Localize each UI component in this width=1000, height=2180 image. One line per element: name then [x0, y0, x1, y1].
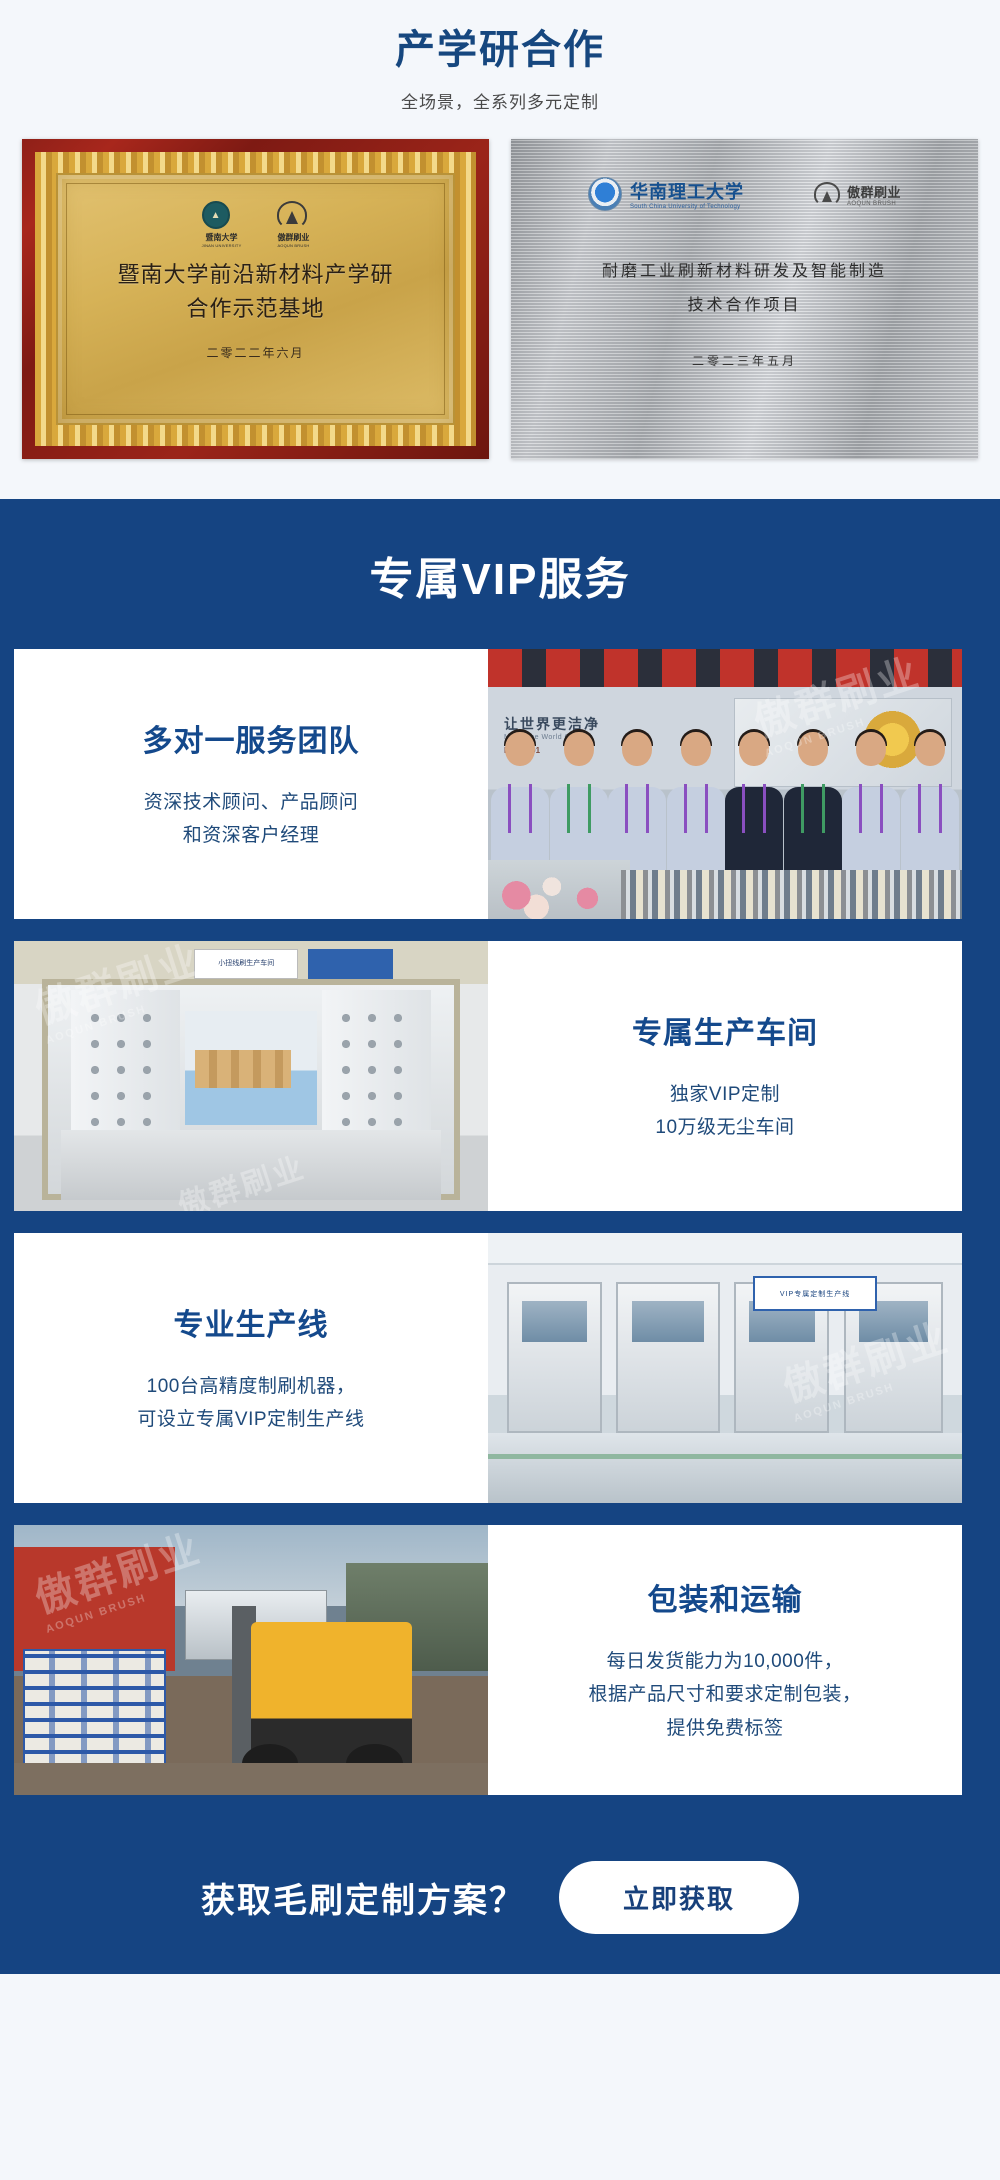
vip-card-body-line1: 100台高精度制刷机器，: [137, 1370, 364, 1403]
workshop-interior: [185, 1011, 318, 1124]
pallet-straps: [23, 1649, 165, 1768]
booth-flowers: [488, 860, 630, 919]
plaque-gold-logo-left-label: 暨南大学: [206, 233, 238, 242]
plaque-gold-logo-right-en: AOQUN BRUSH: [277, 243, 309, 248]
plaque-steel-logos: 华南理工大学 South China University of Technol…: [588, 177, 901, 211]
vip-card-photo-cleanroom: 小扭线刷生产车间 傲群刷业 AOQUN BRUSH 傲群刷业: [14, 941, 488, 1211]
vip-card-heading: 专属生产车间: [632, 1008, 818, 1052]
vip-card-production-line: 专业生产线 100台高精度制刷机器， 可设立专属VIP定制生产线 VIP专属定制…: [14, 1233, 986, 1503]
vip-card-service-team: 多对一服务团队 资深技术顾问、产品顾问 和资深客户经理 让世界更洁净 Make …: [14, 649, 986, 919]
vip-card-heading: 多对一服务团队: [143, 716, 360, 760]
vip-service-section: 专属VIP服务 多对一服务团队 资深技术顾问、产品顾问 和资深客户经理 让世界更…: [0, 499, 1000, 1835]
vip-card-heading: 专业生产线: [174, 1300, 329, 1344]
vip-card-body-line1: 资深技术顾问、产品顾问: [144, 786, 359, 819]
plaque-steel-company-cn: 傲群刷业: [847, 182, 901, 201]
brush-samples: [621, 870, 962, 919]
scut-logo: 华南理工大学 South China University of Technol…: [588, 177, 744, 211]
plaque-gold-logo-right-label: 傲群刷业: [277, 233, 309, 242]
vip-card-photo-production-line: VIP专属定制生产线 傲群刷业 AOQUN BRUSH: [488, 1233, 962, 1503]
vip-card-heading: 包装和运输: [648, 1575, 803, 1619]
cleanroom-floor: [61, 1130, 440, 1200]
workshop-ceiling: [488, 1233, 962, 1265]
plaque-steel-date: 二零二三年五月: [692, 352, 797, 369]
plaque-steel-company-en: AOQUN BRUSH: [847, 201, 901, 207]
plaque-gold-text: 暨南大学前沿新材料产学研 合作示范基地: [117, 258, 393, 326]
plaque-steel-university-en: South China University of Technology: [630, 204, 744, 210]
cta-section: 获取毛刷定制方案？ 立即获取: [0, 1835, 1000, 1974]
team-members: [488, 708, 962, 875]
plaque-gold-line2: 合作示范基地: [117, 292, 393, 326]
vip-line-sign: VIP专属定制生产线: [753, 1276, 876, 1311]
industry-academia-section: 产学研合作 全场景，全系列多元定制 ▲ 暨南大学 JINAN UNIVERSIT…: [0, 0, 1000, 499]
plaque-steel-text: 耐磨工业刷新材料研发及智能制造 技术合作项目: [602, 255, 887, 322]
plaque-gallery: ▲ 暨南大学 JINAN UNIVERSITY 傲群刷业 AOQUN BRUSH: [0, 113, 1000, 489]
vip-card-body-line1: 每日发货能力为10,000件，: [588, 1645, 861, 1678]
scut-seal-icon: [588, 177, 622, 211]
vip-card-body-line1: 独家VIP定制: [655, 1078, 794, 1111]
aoqun-arch-icon: [814, 182, 840, 206]
plaque-steel-university-cn: 华南理工大学: [630, 178, 744, 204]
plaque-gold-jinan-university: ▲ 暨南大学 JINAN UNIVERSITY 傲群刷业 AOQUN BRUSH: [22, 139, 489, 459]
plaque-gold-logo-left-en: JINAN UNIVERSITY: [202, 243, 242, 248]
aoqun-logo-steel: 傲群刷业 AOQUN BRUSH: [814, 182, 901, 207]
vip-card-text: 多对一服务团队 资深技术顾问、产品顾问 和资深客户经理: [14, 649, 488, 919]
get-quote-button[interactable]: 立即获取: [559, 1861, 799, 1934]
page-subtitle: 全场景，全系列多元定制: [0, 88, 1000, 113]
plaque-steel-line2: 技术合作项目: [602, 289, 887, 323]
exhibition-banner: [488, 649, 962, 687]
vip-card-body-line2: 和资深客户经理: [144, 819, 359, 852]
vip-section-title: 专属VIP服务: [0, 543, 1000, 607]
ground: [14, 1763, 488, 1795]
page-title: 产学研合作: [0, 28, 1000, 72]
plaque-gold-line1: 暨南大学前沿新材料产学研: [117, 258, 393, 292]
vip-card-packing-shipping: 傲群刷业 AOQUN BRUSH 包装和运输 每日发货能力为10,000件， 根…: [14, 1525, 986, 1795]
vip-card-text: 包装和运输 每日发货能力为10,000件， 根据产品尺寸和要求定制包装， 提供免…: [488, 1525, 962, 1795]
plaque-gold-date: 二零二二年六月: [206, 344, 304, 361]
jinan-university-logo: ▲ 暨南大学 JINAN UNIVERSITY: [202, 201, 242, 248]
vip-card-body-line2: 可设立专属VIP定制生产线: [137, 1403, 364, 1436]
vip-card-text: 专属生产车间 独家VIP定制 10万级无尘车间: [488, 941, 962, 1211]
cta-question: 获取毛刷定制方案？: [201, 1873, 525, 1922]
plaque-steel-scut: 华南理工大学 South China University of Technol…: [511, 139, 978, 459]
vip-card-photo-team: 让世界更洁净 Make The World Cleaner ISO14001 傲…: [488, 649, 962, 919]
workshop-sign: 小扭线刷生产车间: [194, 949, 298, 979]
brush-machine: [507, 1282, 602, 1433]
aoqun-brush-logo: 傲群刷业 AOQUN BRUSH: [277, 201, 309, 248]
vip-card-body-line2: 10万级无尘车间: [655, 1111, 794, 1144]
aoqun-arch-icon: [277, 201, 307, 229]
vip-card-dedicated-workshop: 小扭线刷生产车间 傲群刷业 AOQUN BRUSH 傲群刷业 专属生产车间 独家…: [14, 941, 986, 1211]
workshop-floor: [488, 1433, 962, 1503]
brush-machine: [616, 1282, 720, 1433]
vip-card-photo-forklift: 傲群刷业 AOQUN BRUSH: [14, 1525, 488, 1795]
workshop-sign-blue: [308, 949, 393, 979]
plaque-gold-logos: ▲ 暨南大学 JINAN UNIVERSITY 傲群刷业 AOQUN BRUSH: [202, 201, 310, 248]
vip-card-text: 专业生产线 100台高精度制刷机器， 可设立专属VIP定制生产线: [14, 1233, 488, 1503]
vip-card-body-line3: 提供免费标签: [588, 1712, 861, 1745]
plaque-steel-line1: 耐磨工业刷新材料研发及智能制造: [602, 255, 887, 289]
vip-card-body-line2: 根据产品尺寸和要求定制包装，: [588, 1678, 861, 1711]
university-seal-icon: ▲: [202, 201, 230, 229]
plaque-gold-face: ▲ 暨南大学 JINAN UNIVERSITY 傲群刷业 AOQUN BRUSH: [56, 173, 455, 425]
